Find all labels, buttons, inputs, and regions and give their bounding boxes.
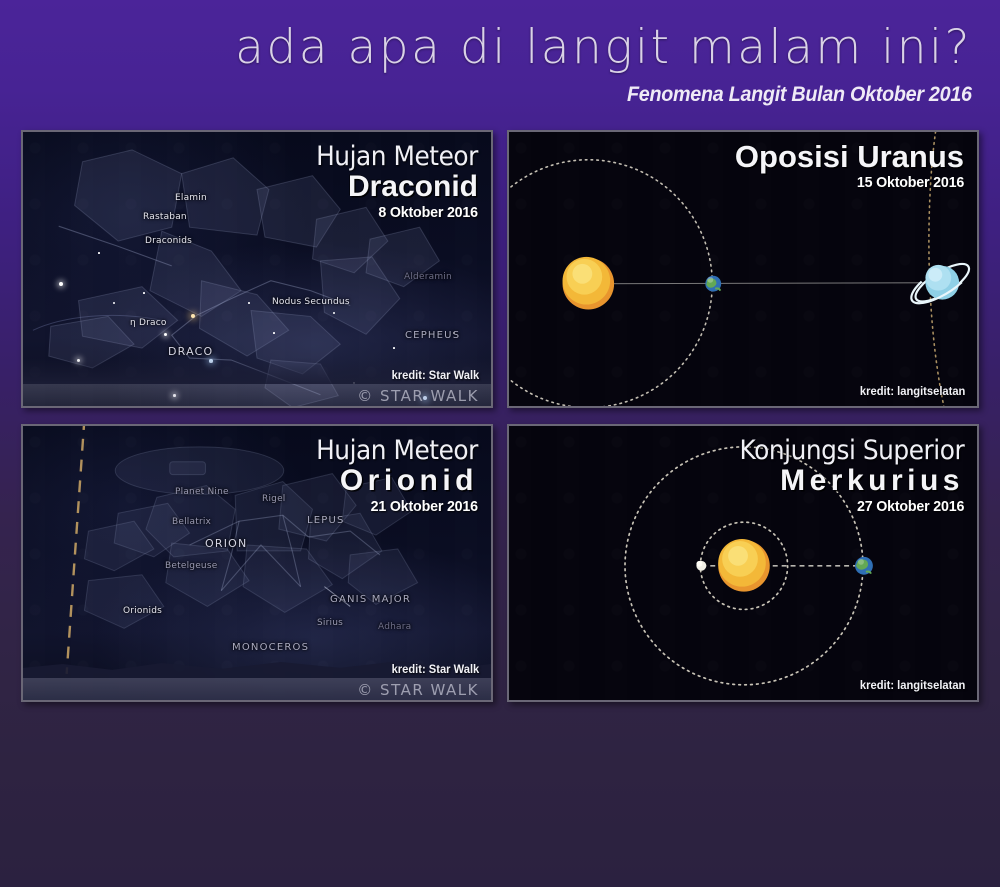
sky-label-orion: ORION <box>205 537 247 550</box>
sky-label-sirius: Sirius <box>317 618 343 628</box>
panel-name: Orionid <box>302 464 478 497</box>
opposition-alignment-line <box>588 283 945 284</box>
star-generic <box>98 252 100 254</box>
footer: LANGITSELATAN #Media Astronomi Indonesia… <box>0 702 1000 887</box>
uranus-body <box>906 257 974 311</box>
star-elamin <box>191 314 195 318</box>
panel-credit: kredit: langitselatan <box>860 384 965 398</box>
sky-label-monoceros: MONOCEROS <box>232 642 309 653</box>
panel-mercury[interactable]: Konjungsi Superior Merkurius 27 Oktober … <box>507 424 979 702</box>
panel-name: Merkurius <box>720 464 964 497</box>
sky-label-betelgeuse: Betelgeuse <box>165 561 217 571</box>
header: ada apa di langit malam ini? Fenomena La… <box>0 0 1000 122</box>
sky-label-bellatrix: Bellatrix <box>172 517 211 527</box>
panel-kicker: Konjungsi Superior <box>739 436 964 466</box>
star-generic <box>333 312 335 314</box>
sky-label-cepheus: CEPHEUS <box>405 330 460 341</box>
panel-title-mercury: Konjungsi Superior Merkurius 27 Oktober … <box>720 436 964 515</box>
star-rastaban <box>164 333 167 336</box>
sky-label-draconids: Draconids <box>145 236 192 246</box>
panel-credit: kredit: Star Walk <box>391 662 479 676</box>
sky-label-planet-nine: Planet Nine <box>175 487 229 497</box>
panel-name: Draconid <box>302 170 478 203</box>
star-generic <box>248 302 250 304</box>
panel-date: 15 Oktober 2016 <box>746 174 964 191</box>
sky-label-rastaban: Rastaban <box>143 212 187 222</box>
starwalk-watermark: © STAR WALK <box>357 681 479 699</box>
panel-title-orionid: Hujan Meteor Orionid 21 Oktober 2016 <box>302 436 478 515</box>
panel-date: 21 Oktober 2016 <box>311 498 478 515</box>
panel-orionid[interactable]: Hujan Meteor Orionid 21 Oktober 2016 kre… <box>21 424 493 702</box>
panel-uranus[interactable]: Oposisi Uranus 15 Oktober 2016 kredit: l… <box>507 130 979 408</box>
panel-date: 27 Oktober 2016 <box>732 498 964 515</box>
sun-body <box>563 257 615 310</box>
page-subtitle: Fenomena Langit Bulan Oktober 2016 <box>627 83 972 107</box>
page-title: ada apa di langit malam ini? <box>235 22 972 74</box>
panel-date: 8 Oktober 2016 <box>311 204 478 221</box>
star-generic <box>143 292 145 294</box>
sun-body <box>718 539 770 592</box>
panel-title-uranus: Oposisi Uranus 15 Oktober 2016 <box>735 142 964 191</box>
star-generic <box>59 282 63 286</box>
earth-body <box>705 276 721 292</box>
panel-title-draconid: Hujan Meteor Draconid 8 Oktober 2016 <box>302 142 478 221</box>
sky-label-ganis-major: GANIS MAJOR <box>330 594 411 605</box>
starwalk-watermark: © STAR WALK <box>357 387 479 405</box>
star-generic <box>113 302 115 304</box>
panel-name: Oposisi Uranus <box>735 140 964 173</box>
mercury-body <box>696 561 706 571</box>
panel-kicker: Hujan Meteor <box>316 142 478 172</box>
sky-label-alderamin: Alderamin <box>404 272 452 282</box>
sky-label-elamin: Elamin <box>175 193 207 203</box>
sky-label-orionids: Orionids <box>123 606 162 616</box>
sky-label-adhara: Adhara <box>378 622 411 632</box>
panel-credit: kredit: langitselatan <box>860 678 965 692</box>
panel-draconid[interactable]: Hujan Meteor Draconid 8 Oktober 2016 kre… <box>21 130 493 408</box>
star-generic <box>393 347 395 349</box>
star-generic <box>273 332 275 334</box>
sky-label-lepus: LEPUS <box>307 515 345 526</box>
panel-kicker: Hujan Meteor <box>316 436 478 466</box>
panel-credit: kredit: Star Walk <box>391 368 479 382</box>
sky-label-draco: η Draco <box>130 318 167 328</box>
ecliptic-line <box>67 426 85 674</box>
sky-label-nodus-secundus: Nodus Secundus <box>272 297 350 307</box>
sky-label-rigel: Rigel <box>262 494 286 504</box>
earth-body <box>855 557 873 575</box>
sky-label-draco: DRACO <box>168 345 213 358</box>
